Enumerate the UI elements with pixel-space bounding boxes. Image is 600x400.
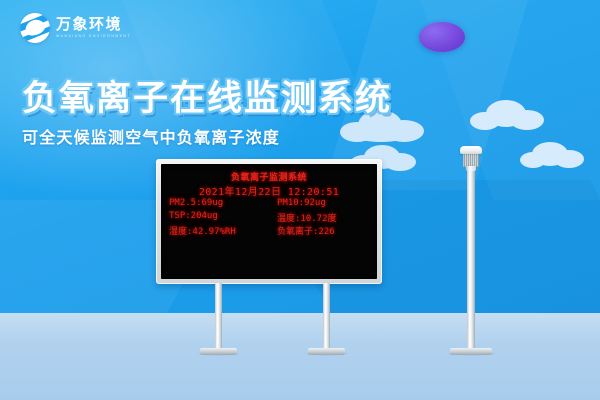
brand-logo-text: 万象环境 WANXIANG ENVIRONMENT — [56, 17, 131, 39]
air-quality-sensor-icon — [459, 146, 483, 172]
pole-base-left — [200, 348, 237, 355]
reading-temperature: 温度:10.72度 — [277, 211, 337, 224]
reading-humidity: 湿度:42.97%RH — [169, 224, 236, 237]
board-support-pole-right — [323, 283, 330, 351]
sensor-pole-base — [450, 348, 492, 355]
screen-title: 负氧离子监测系统 — [161, 170, 377, 183]
sensor-neck — [466, 166, 476, 171]
page-subtitle: 可全天候监测空气中负氧离子浓度 — [22, 124, 280, 148]
promo-banner: 万象环境 WANXIANG ENVIRONMENT 负氧离子在线监测系统 可全天… — [0, 0, 600, 400]
reading-tsp: TSP:204ug — [169, 211, 218, 221]
ground-sheen — [0, 313, 600, 343]
pole-base-right — [308, 348, 345, 355]
brand-name-en: WANXIANG ENVIRONMENT — [56, 35, 131, 39]
brand-name-cn: 万象环境 — [56, 17, 131, 32]
reading-negative-oxygen-ions: 负氧离子:226 — [277, 224, 335, 237]
reading-pm25: PM2.5:69ug — [169, 198, 223, 208]
cloud-icon — [470, 100, 544, 130]
board-screen: 负氧离子监测系统 2021年12月22日 12:20:51 PM2.5:69ug… — [161, 164, 377, 279]
globe-swoosh-icon — [20, 13, 50, 43]
brand-logo[interactable]: 万象环境 WANXIANG ENVIRONMENT — [20, 13, 131, 43]
reading-pm10: PM10:92ug — [277, 198, 326, 208]
cloud-icon — [520, 142, 586, 168]
screen-datetime: 2021年12月22日 12:20:51 — [161, 183, 377, 198]
led-display-board[interactable]: 负氧离子监测系统 2021年12月22日 12:20:51 PM2.5:69ug… — [156, 159, 382, 284]
sensor-cap — [460, 146, 482, 154]
purple-orb-icon — [419, 22, 465, 52]
board-frame: 负氧离子监测系统 2021年12月22日 12:20:51 PM2.5:69ug… — [156, 159, 382, 284]
page-title: 负氧离子在线监测系统 — [22, 70, 392, 121]
sensor-pole — [467, 168, 475, 351]
board-support-pole-left — [215, 283, 222, 351]
